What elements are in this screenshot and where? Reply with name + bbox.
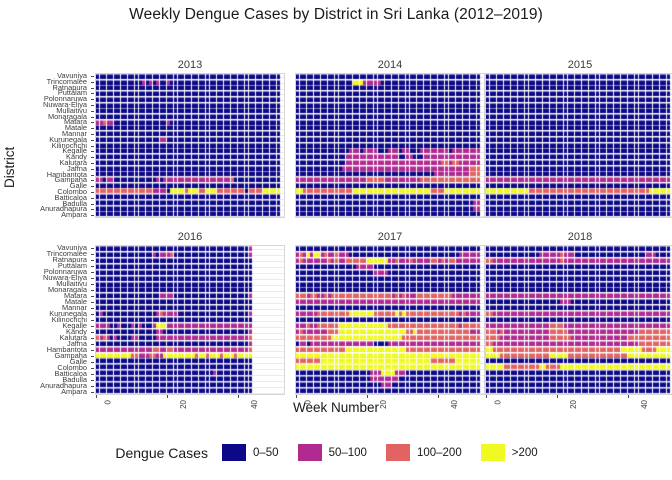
x-axis-label: 0	[103, 400, 112, 404]
y-axis-tick	[91, 192, 94, 193]
y-axis-tick	[91, 140, 94, 141]
y-axis-tick	[91, 151, 94, 152]
y-axis-tick	[91, 169, 94, 170]
y-axis-tick	[91, 186, 94, 187]
x-axis-2016: 02040	[95, 395, 285, 423]
y-axis-tick	[91, 175, 94, 176]
facet-plot-area-2014	[295, 73, 485, 218]
facet-strip-label-2018: 2018	[485, 230, 672, 245]
y-axis-tick	[91, 314, 94, 315]
legend-swatch	[222, 444, 246, 461]
y-axis-tick	[91, 302, 94, 303]
facet-strip-label-2014: 2014	[295, 58, 485, 73]
x-axis-label: 20	[179, 400, 188, 409]
legend: Dengue Cases 0–5050–100100–200>200	[0, 444, 672, 461]
legend-label: 50–100	[329, 447, 367, 459]
y-axis-tick	[91, 392, 94, 393]
y-axis-tick	[91, 122, 94, 123]
y-axis-tick	[91, 204, 94, 205]
y-axis-tick	[91, 320, 94, 321]
legend-key[interactable]: >200	[481, 444, 551, 461]
y-axis-tick	[91, 260, 94, 261]
x-axis-label: 40	[250, 400, 259, 409]
heatmap-tiles-2015[interactable]	[486, 74, 672, 217]
y-axis-tick	[91, 111, 94, 112]
legend-swatch	[386, 444, 410, 461]
x-axis-label: 20	[379, 400, 388, 409]
x-axis-tick	[628, 395, 629, 398]
legend-swatch	[481, 444, 505, 461]
y-axis-tick	[91, 117, 94, 118]
x-axis-tick	[486, 395, 487, 398]
y-axis-tick	[91, 93, 94, 94]
y-axis-labels: VavuniyaTrincomaleeRatnapuraPuttalamPolo…	[0, 245, 95, 395]
y-axis-tick	[91, 374, 94, 375]
y-axis-tick	[91, 88, 94, 89]
facet-plot-area-2013	[95, 73, 285, 218]
y-axis-tick	[91, 344, 94, 345]
facet-panel-2015: 2015	[485, 58, 672, 218]
legend-swatch	[298, 444, 322, 461]
x-axis-tick	[296, 395, 297, 398]
y-axis-label: Ampara	[61, 388, 87, 396]
y-axis-tick	[91, 146, 94, 147]
legend-label: 0–50	[253, 447, 279, 459]
y-axis-tick	[91, 209, 94, 210]
x-axis-tick	[96, 395, 97, 398]
y-axis-tick	[91, 296, 94, 297]
legend-key[interactable]: 50–100	[298, 444, 380, 461]
heatmap-tiles-2018[interactable]	[486, 246, 672, 394]
y-axis-tick	[91, 272, 94, 273]
y-axis-tick	[91, 163, 94, 164]
x-axis-label: 40	[450, 400, 459, 409]
y-axis-tick	[91, 290, 94, 291]
facet-panel-2016: 2016	[95, 230, 285, 395]
y-axis-tick	[91, 338, 94, 339]
chart-title: Weekly Dengue Cases by District in Sri L…	[0, 6, 672, 24]
heatmap-tiles-2017[interactable]	[296, 246, 484, 394]
y-axis-tick	[91, 278, 94, 279]
y-axis-tick	[91, 215, 94, 216]
y-axis-tick	[91, 326, 94, 327]
x-axis-label: 20	[569, 400, 578, 409]
x-axis-2017: 02040	[295, 395, 485, 423]
x-axis-tick	[367, 395, 368, 398]
x-axis-2018: 02040	[485, 395, 672, 423]
heatmap-tiles-2013[interactable]	[96, 74, 284, 217]
facet-panel-2014: 2014	[295, 58, 485, 218]
facet-strip-label-2016: 2016	[95, 230, 285, 245]
y-axis-tick	[91, 380, 94, 381]
heatmap-tiles-2014[interactable]	[296, 74, 484, 217]
y-axis-tick	[91, 82, 94, 83]
y-axis-tick	[91, 362, 94, 363]
y-axis-tick	[91, 386, 94, 387]
y-axis-tick	[91, 76, 94, 77]
y-axis-tick	[91, 308, 94, 309]
facet-plot-area-2015	[485, 73, 672, 218]
facet-panel-2013: 2013	[95, 58, 285, 218]
y-axis-tick	[91, 99, 94, 100]
facet-plot-area-2016	[95, 245, 285, 395]
y-axis-tick	[91, 356, 94, 357]
y-axis-tick	[91, 254, 94, 255]
x-axis-tick	[557, 395, 558, 398]
facet-plot-area-2018	[485, 245, 672, 395]
y-axis-tick	[91, 332, 94, 333]
legend-title: Dengue Cases	[115, 445, 208, 461]
facet-plot-area-2017	[295, 245, 485, 395]
legend-key[interactable]: 0–50	[222, 444, 292, 461]
y-axis-tick	[91, 198, 94, 199]
y-axis-tick	[91, 266, 94, 267]
y-axis-tick	[91, 134, 94, 135]
heatmap-tiles-2016[interactable]	[96, 246, 284, 394]
y-axis-labels: VavuniyaTrincomaleeRatnapuraPuttalamPolo…	[0, 73, 95, 218]
y-axis-tick	[91, 248, 94, 249]
x-axis-label: 0	[303, 400, 312, 404]
x-axis-label: 0	[493, 400, 502, 404]
facet-strip-label-2017: 2017	[295, 230, 485, 245]
x-axis-tick	[167, 395, 168, 398]
legend-label: >200	[512, 447, 538, 459]
x-axis-tick	[438, 395, 439, 398]
y-axis-tick	[91, 350, 94, 351]
y-axis-tick	[91, 105, 94, 106]
y-axis-label: Ampara	[61, 211, 87, 219]
legend-keys: 0–5050–100100–200>200	[222, 444, 557, 461]
x-axis-tick	[238, 395, 239, 398]
y-axis-tick	[91, 128, 94, 129]
facet-strip-label-2015: 2015	[485, 58, 672, 73]
x-axis-label: 40	[640, 400, 649, 409]
y-axis-tick	[91, 368, 94, 369]
facet-panel-2018: 2018	[485, 230, 672, 395]
y-axis-tick	[91, 284, 94, 285]
y-axis-tick	[91, 180, 94, 181]
dengue-heatmap-figure: Weekly Dengue Cases by District in Sri L…	[0, 0, 672, 480]
facet-panel-2017: 2017	[295, 230, 485, 395]
facet-strip-label-2013: 2013	[95, 58, 285, 73]
y-axis-tick	[91, 157, 94, 158]
legend-label: 100–200	[417, 447, 462, 459]
legend-key[interactable]: 100–200	[386, 444, 475, 461]
